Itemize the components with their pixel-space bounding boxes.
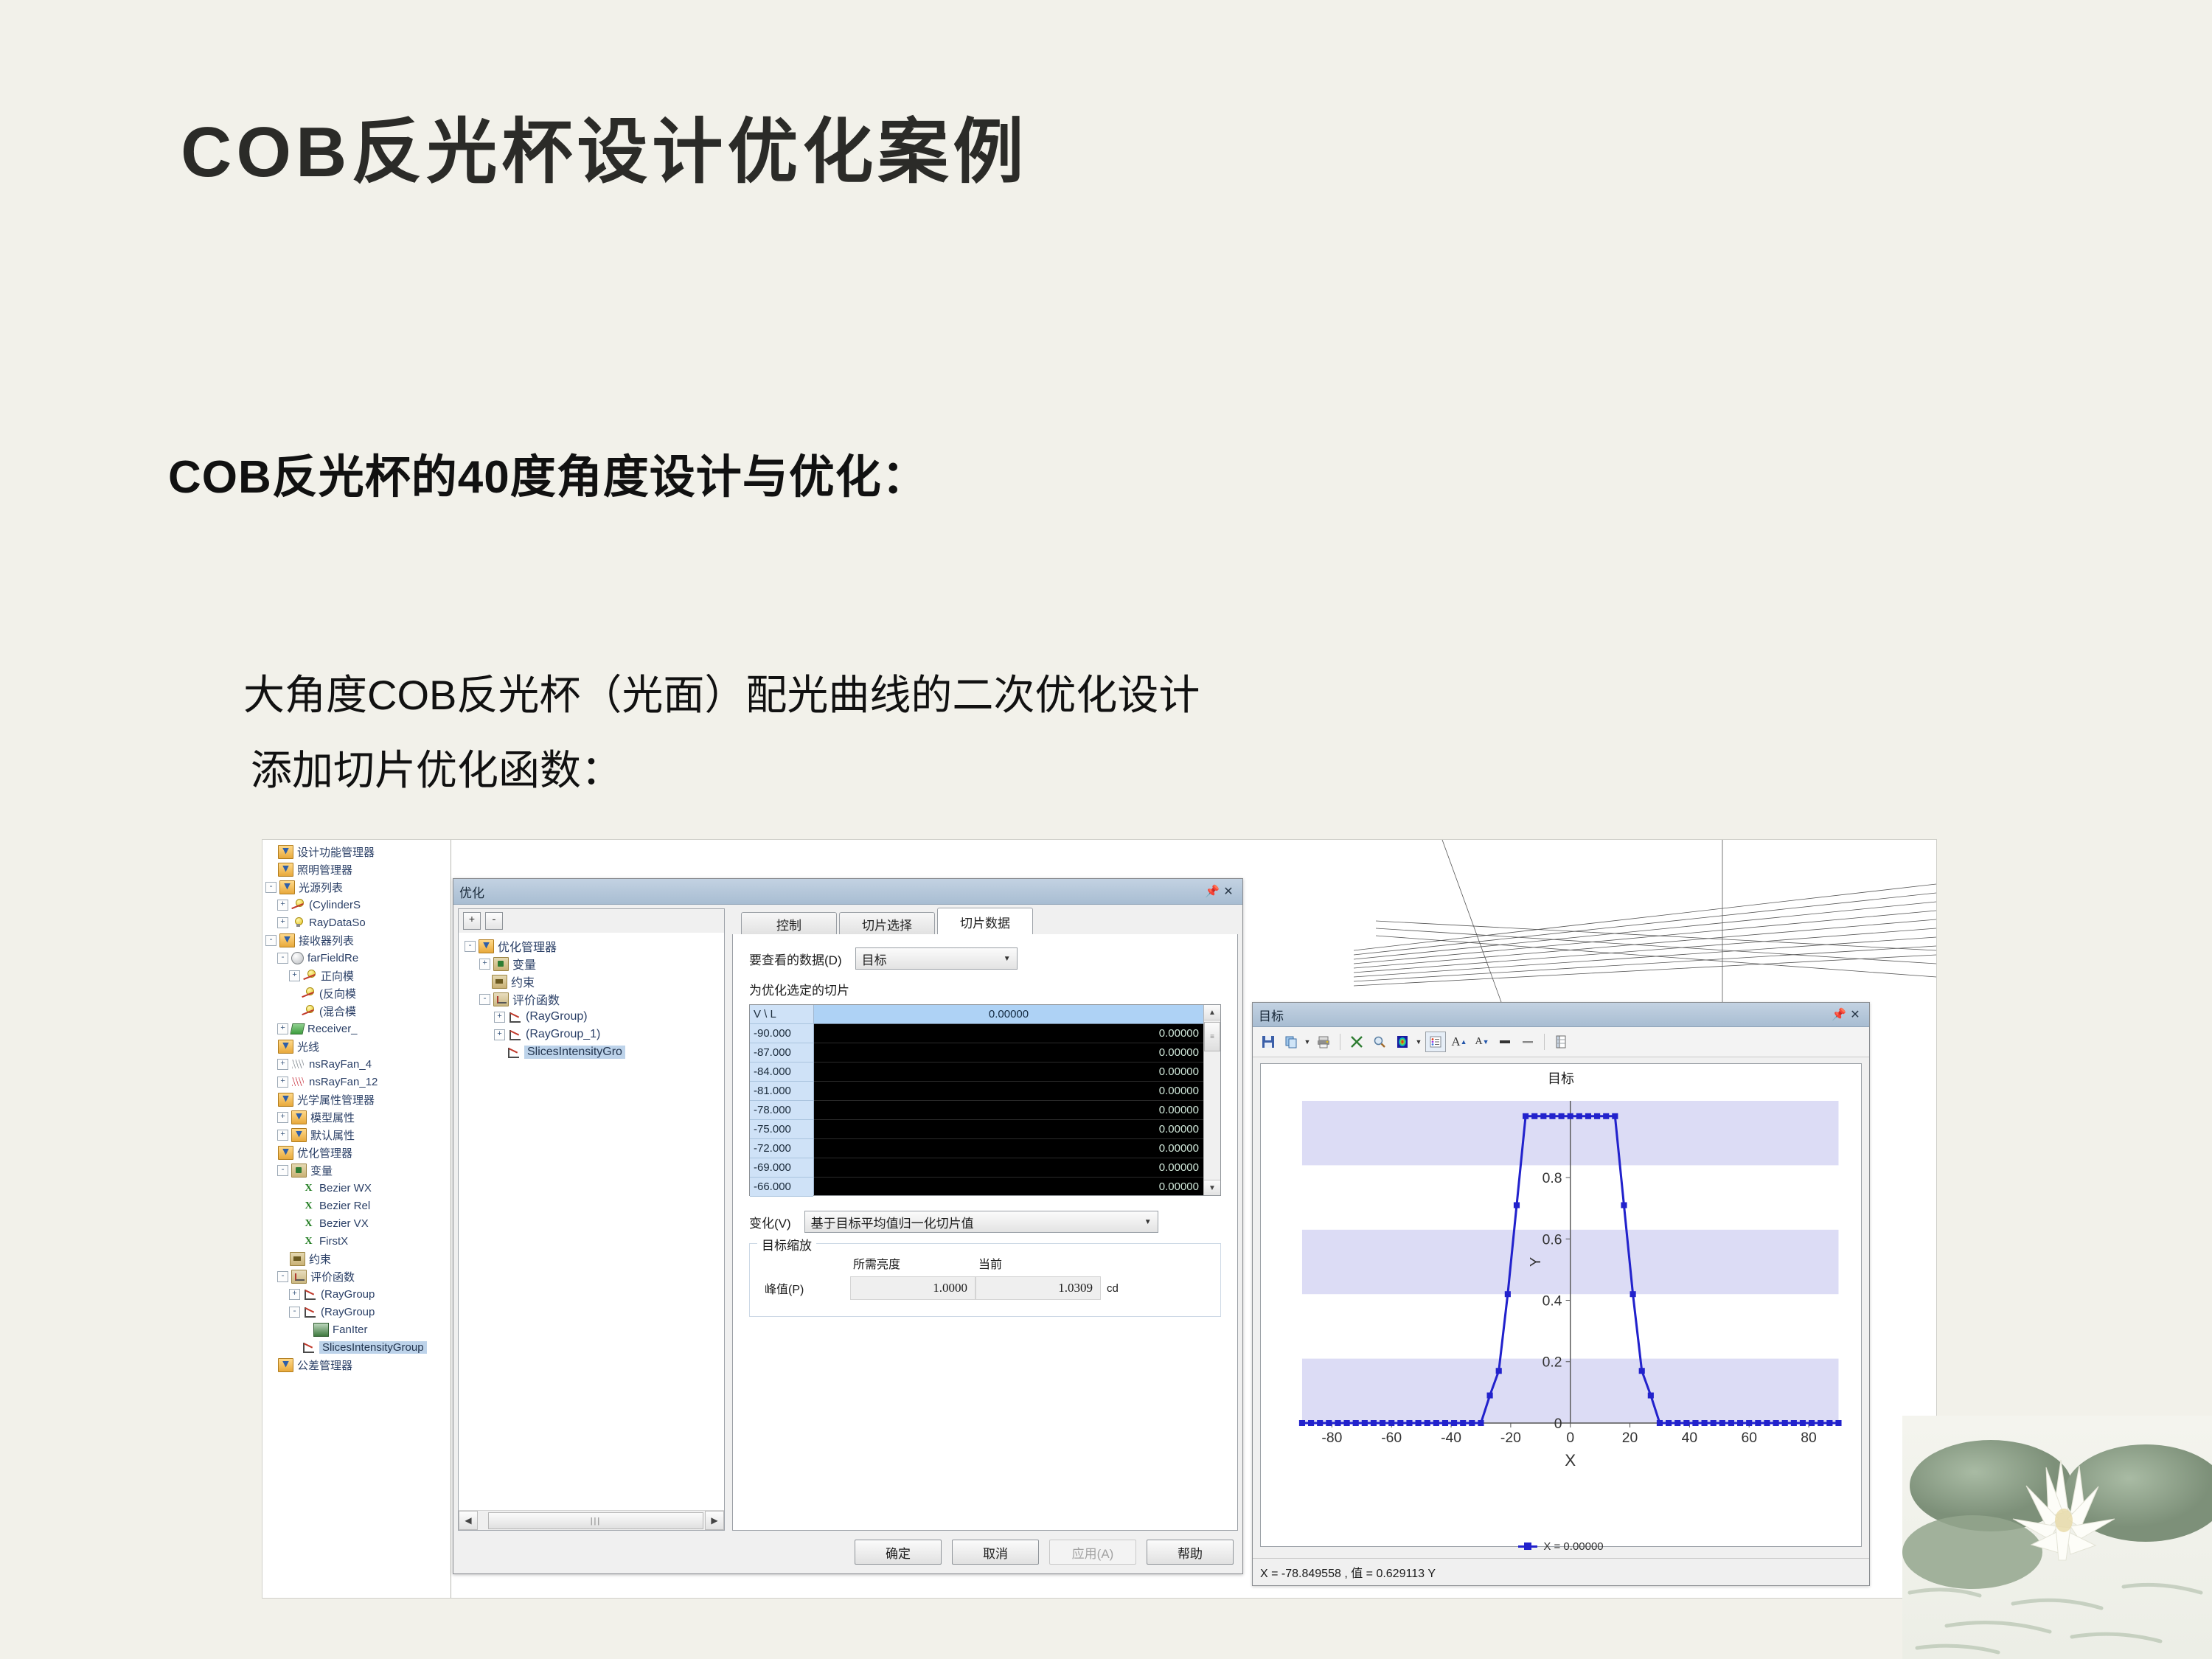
folder-green-icon — [291, 1164, 307, 1178]
folder-icon — [278, 1146, 293, 1160]
tree-item-29[interactable]: 公差管理器 — [265, 1356, 451, 1374]
tree-item-28[interactable]: SlicesIntensityGroup — [265, 1338, 451, 1356]
tree-item-20[interactable]: XBezier Rel — [265, 1197, 451, 1214]
tree-item-label: Bezier WX — [319, 1182, 372, 1194]
chart-canvas[interactable]: 目标 -80-60-40-2002040608000.20.40.60.8XY — [1260, 1063, 1862, 1547]
variation-select[interactable]: 基于目标平均值归一化切片值 ▼ — [804, 1211, 1158, 1233]
tree-item-4[interactable]: +(RayGroup) — [465, 1008, 724, 1026]
chart-data-point — [1826, 1420, 1832, 1426]
tree-item-label: FirstX — [319, 1235, 348, 1248]
expand-icon[interactable]: + — [494, 1012, 505, 1023]
chart-legend[interactable]: X = 0.00000 — [1253, 1540, 1869, 1553]
tree-item-22[interactable]: XFirstX — [265, 1232, 451, 1250]
receiver-icon — [290, 1023, 305, 1034]
chevron-down-icon[interactable]: ▼ — [1416, 1032, 1422, 1051]
save-icon[interactable] — [1259, 1032, 1278, 1051]
copy-icon[interactable] — [1281, 1032, 1301, 1051]
tree-item-label: 公差管理器 — [297, 1357, 352, 1373]
tree-item-25[interactable]: +(RayGroup — [265, 1285, 451, 1303]
grid-row-header-4[interactable]: -78.000 — [750, 1101, 813, 1120]
tab-panel-slice-data: 要查看的数据(D) 目标 ▼ 为优化选定的切片 V \ L-90.000-87.… — [732, 934, 1238, 1531]
folder-icon — [279, 933, 295, 947]
tree-item-26[interactable]: -(RayGroup — [265, 1303, 451, 1321]
tree-item-label: 接收器列表 — [299, 933, 354, 948]
expand-icon[interactable]: + — [277, 1077, 288, 1088]
grid-scroll-thumb[interactable]: ≡ — [1204, 1022, 1220, 1051]
folder-green-icon — [493, 957, 509, 971]
body-text-line-2: 添加切片优化函数： — [251, 737, 622, 797]
chart-data-point — [1764, 1420, 1770, 1426]
y-tick-label: 0 — [1554, 1416, 1562, 1432]
tab-label: 切片选择 — [862, 915, 912, 933]
folder-icon — [279, 880, 295, 894]
folder-constraint-icon — [492, 975, 507, 989]
tree-item-label: 变量 — [310, 1163, 333, 1178]
tree-item-label: Bezier VX — [319, 1217, 369, 1230]
tree-item-label: 评价函数 — [512, 990, 560, 1008]
collapse-icon[interactable]: - — [289, 1307, 300, 1318]
grid-corner-header: V \ L — [750, 1005, 813, 1024]
x-tick-label: -60 — [1381, 1430, 1402, 1446]
expand-icon[interactable]: + — [277, 917, 288, 928]
expand-all-button[interactable]: + — [463, 912, 481, 930]
tree-item-label: 正向模 — [321, 968, 354, 984]
chart-data-point — [1612, 1113, 1618, 1119]
tree-item-8[interactable]: (反向模 — [265, 984, 451, 1002]
chart-data-point — [1308, 1420, 1314, 1426]
tree-item-label: FanIter — [333, 1324, 368, 1336]
tree-item-3[interactable]: +(CylinderS — [265, 896, 451, 914]
grid-row-3[interactable]: 0.00000 — [814, 1082, 1203, 1101]
scatter-icon[interactable] — [1347, 1032, 1366, 1051]
scroll-down-arrow[interactable]: ▼ — [1204, 1180, 1220, 1195]
chart-data-point — [1540, 1113, 1546, 1119]
tree-item-label: (RayGroup) — [526, 1010, 588, 1023]
grid-row-header-5[interactable]: -75.000 — [750, 1120, 813, 1139]
grid-row-6[interactable]: 0.00000 — [814, 1139, 1203, 1158]
chart-status-bar: X = -78.849558 , 值 = 0.629113 Y — [1253, 1558, 1869, 1585]
merit-icon — [508, 1029, 522, 1041]
merit-icon — [302, 1341, 316, 1354]
tree-item-label: nsRayFan_12 — [309, 1076, 378, 1088]
chart-data-point — [1657, 1420, 1663, 1426]
embedded-screenshot: 设计功能管理器照明管理器-光源列表+(CylinderS+RayDataSo-接… — [262, 839, 1937, 1599]
folder-merit-icon — [493, 992, 509, 1006]
chart-data-point — [1728, 1420, 1734, 1426]
tree-item-1[interactable]: 照明管理器 — [265, 860, 451, 878]
folder-icon — [278, 863, 293, 877]
grid-row-header-2[interactable]: -84.000 — [750, 1062, 813, 1082]
chart-data-point — [1594, 1113, 1600, 1119]
tree-item-label: farFieldRe — [307, 952, 358, 964]
tree-item-24[interactable]: -评价函数 — [265, 1267, 451, 1285]
tree-item-9[interactable]: (混合模 — [265, 1002, 451, 1020]
toolbar-separator — [1340, 1034, 1340, 1050]
chart-data-point — [1388, 1420, 1394, 1426]
pin-icon[interactable]: 📌 — [1831, 1007, 1847, 1022]
chart-data-point — [1692, 1420, 1698, 1426]
tree-horizontal-scrollbar[interactable]: ◀ ||| ▶ — [459, 1510, 724, 1530]
chart-data-point — [1791, 1420, 1797, 1426]
chart-data-point — [1371, 1420, 1377, 1426]
tree-item-17[interactable]: 优化管理器 — [265, 1144, 451, 1161]
chart-data-point — [1380, 1420, 1385, 1426]
sphere-icon — [291, 952, 304, 964]
grid-row-header-3[interactable]: -81.000 — [750, 1082, 813, 1101]
dialog-titlebar: 优化 📌 ✕ — [453, 879, 1242, 905]
dialog-button-2: 应用(A) — [1049, 1540, 1136, 1565]
tree-item-label: 光线 — [297, 1039, 319, 1054]
chart-data-point — [1317, 1420, 1323, 1426]
tree-item-5[interactable]: +(RayGroup_1) — [465, 1026, 724, 1043]
grid-row-header-8[interactable]: -66.000 — [750, 1178, 813, 1197]
tree-item-16[interactable]: +默认属性 — [265, 1126, 451, 1144]
x-axis-label: X — [1565, 1451, 1576, 1470]
lotus-decoration-image — [1902, 1416, 2212, 1659]
optimization-tree-panel[interactable]: + - -优化管理器+变量约束-评价函数+(RayGroup)+(RayGrou… — [458, 908, 725, 1531]
chart-title: 目标 — [1261, 1064, 1861, 1088]
chart-data-point — [1353, 1420, 1359, 1426]
variable-x-icon: X — [302, 1182, 316, 1194]
variable-x-icon: X — [302, 1200, 316, 1212]
tree-item-15[interactable]: +模型属性 — [265, 1108, 451, 1126]
grid-row-8[interactable]: 0.00000 — [814, 1178, 1203, 1195]
collapse-icon[interactable]: - — [277, 1165, 288, 1176]
slices-label: 为优化选定的切片 — [749, 980, 1221, 998]
collapse-icon[interactable]: - — [265, 882, 276, 893]
line-thin-icon[interactable] — [1518, 1032, 1537, 1051]
grid-row-4[interactable]: 0.00000 — [814, 1101, 1203, 1120]
grid-column-header[interactable]: 0.00000 — [814, 1005, 1203, 1024]
chart-data-point — [1487, 1393, 1493, 1399]
chart-data-point — [1299, 1420, 1305, 1426]
current-value-field: 1.0309 — [975, 1276, 1101, 1300]
tree-item-11[interactable]: 光线 — [265, 1037, 451, 1055]
chart-data-point — [1559, 1113, 1565, 1119]
tree-item-0[interactable]: 设计功能管理器 — [265, 843, 451, 860]
grid-row-headers: V \ L-90.000-87.000-84.000-81.000-78.000… — [750, 1005, 814, 1195]
tree-item-label: 优化管理器 — [498, 937, 557, 955]
chart-data-point — [1800, 1420, 1806, 1426]
expand-icon[interactable]: + — [277, 1130, 288, 1141]
chart-status-text: X = -78.849558 , 值 = 0.629113 Y — [1260, 1563, 1436, 1581]
tree-item-label: Bezier Rel — [319, 1200, 370, 1212]
chart-data-point — [1469, 1420, 1475, 1426]
y-tick-label: 0.8 — [1543, 1171, 1562, 1186]
dialog-button-1[interactable]: 取消 — [952, 1540, 1039, 1565]
toolbar-separator — [1544, 1034, 1545, 1050]
tree-item-label: nsRayFan_4 — [309, 1058, 372, 1071]
tree-item-label: 默认属性 — [310, 1127, 355, 1143]
chevron-down-icon: ▼ — [1004, 955, 1011, 963]
chart-data-point — [1835, 1420, 1841, 1426]
chart-dock-titlebar: 目标 📌 ✕ — [1253, 1003, 1869, 1027]
grid-row-0[interactable]: 0.00000 — [814, 1024, 1203, 1043]
zoom-icon[interactable] — [1370, 1032, 1389, 1051]
x-tick-label: 20 — [1622, 1430, 1638, 1446]
chart-data-point — [1809, 1420, 1815, 1426]
tree-item-label: 设计功能管理器 — [297, 844, 375, 860]
dialog-button-0[interactable]: 确定 — [855, 1540, 942, 1565]
grid-row-2[interactable]: 0.00000 — [814, 1062, 1203, 1082]
tree-item-label: 照明管理器 — [297, 862, 352, 877]
tree-item-label: 评价函数 — [310, 1269, 355, 1284]
expand-icon[interactable]: + — [289, 970, 300, 981]
tree-item-2[interactable]: 约束 — [465, 973, 724, 990]
expand-icon[interactable]: + — [277, 1023, 288, 1034]
chart-data-point — [1683, 1420, 1689, 1426]
tree-item-14[interactable]: 光学属性管理器 — [265, 1091, 451, 1108]
scroll-up-arrow[interactable]: ▲ — [1204, 1005, 1220, 1020]
chart-data-point — [1362, 1420, 1368, 1426]
folder-icon — [278, 1040, 293, 1054]
tree-item-27[interactable]: FanIter — [265, 1321, 451, 1338]
tree-item-label: 模型属性 — [310, 1110, 355, 1125]
chart-data-point — [1755, 1420, 1761, 1426]
bulb-ray-icon — [302, 1005, 316, 1018]
chart-dock-title: 目标 — [1259, 1006, 1831, 1024]
pin-icon[interactable]: 📌 — [1204, 884, 1220, 899]
tree-item-3[interactable]: -评价函数 — [465, 990, 724, 1008]
x-tick-label: -40 — [1441, 1430, 1461, 1446]
chart-toolbar[interactable]: ▼ ▼ A▲ A▼ — [1253, 1027, 1869, 1057]
tree-item-7[interactable]: +正向模 — [265, 967, 451, 984]
collapse-icon[interactable]: - — [479, 994, 490, 1005]
tree-item-label: (CylinderS — [309, 899, 361, 911]
grid-row-header-0[interactable]: -90.000 — [750, 1024, 813, 1043]
target-chart-dock: 目标 📌 ✕ ▼ ▼ — [1252, 1002, 1870, 1586]
font-decrease-icon[interactable]: A▼ — [1472, 1032, 1492, 1051]
tree-item-0[interactable]: -优化管理器 — [465, 937, 724, 955]
x-tick-label: 80 — [1801, 1430, 1816, 1446]
slide-subtitle: COB反光杯的40度角度设计与优化： — [168, 439, 928, 506]
grid-row-header-6[interactable]: -72.000 — [750, 1139, 813, 1158]
tree-item-label: 光源列表 — [299, 880, 343, 895]
required-brightness-field[interactable]: 1.0000 — [850, 1276, 975, 1300]
chart-data-point — [1639, 1368, 1645, 1374]
tab-2[interactable]: 切片数据 — [937, 908, 1033, 936]
tree-item-label: 变量 — [512, 955, 536, 973]
y-tick-label: 0.6 — [1543, 1232, 1562, 1248]
tab-0[interactable]: 控制 — [741, 912, 837, 935]
tree-item-label: 光学属性管理器 — [297, 1092, 375, 1107]
tree-item-10[interactable]: +Receiver_ — [265, 1020, 451, 1037]
collapse-icon[interactable]: - — [277, 1271, 288, 1282]
tab-label: 切片数据 — [960, 913, 1010, 931]
font-increase-icon[interactable]: A▲ — [1450, 1032, 1469, 1051]
tree-item-label: Receiver_ — [307, 1023, 358, 1035]
chart-data-point — [1818, 1420, 1823, 1426]
grid-row-header-7[interactable]: -69.000 — [750, 1158, 813, 1178]
chart-data-point — [1630, 1291, 1636, 1297]
collapse-icon[interactable]: - — [265, 935, 276, 946]
collapse-icon[interactable]: - — [277, 953, 288, 964]
scroll-left-arrow[interactable]: ◀ — [459, 1511, 478, 1530]
chart-data-point — [1782, 1420, 1788, 1426]
grid-row-7[interactable]: 0.00000 — [814, 1158, 1203, 1178]
tree-item-18[interactable]: -变量 — [265, 1161, 451, 1179]
chart-data-point — [1523, 1113, 1528, 1119]
legend-label: X = 0.00000 — [1543, 1540, 1603, 1553]
tree-item-6[interactable]: -farFieldRe — [265, 949, 451, 967]
dialog-button-bar: 确定取消应用(A)帮助 — [458, 1535, 1238, 1569]
required-brightness-header: 所需亮度 — [850, 1254, 975, 1272]
chart-data-point — [1505, 1291, 1511, 1297]
chart-data-point — [1603, 1113, 1609, 1119]
chart-data-point — [1549, 1113, 1555, 1119]
dialog-button-3[interactable]: 帮助 — [1147, 1540, 1234, 1565]
close-icon[interactable]: ✕ — [1220, 884, 1237, 899]
chart-data-point — [1568, 1113, 1573, 1119]
tree-item-13[interactable]: +nsRayFan_12 — [265, 1073, 451, 1091]
page-title: COB反光杯设计优化案例 — [181, 94, 1028, 197]
variable-x-icon: X — [302, 1235, 316, 1248]
tree-item-19[interactable]: XBezier WX — [265, 1179, 451, 1197]
slice-data-grid[interactable]: V \ L-90.000-87.000-84.000-81.000-78.000… — [749, 1004, 1221, 1196]
chart-data-point — [1585, 1113, 1591, 1119]
expand-icon[interactable]: + — [277, 1112, 288, 1123]
chevron-down-icon[interactable]: ▼ — [1304, 1032, 1310, 1051]
grid-row-1[interactable]: 0.00000 — [814, 1043, 1203, 1062]
legend-marker-icon — [1518, 1545, 1537, 1548]
project-tree-panel[interactable]: 设计功能管理器照明管理器-光源列表+(CylinderS+RayDataSo-接… — [262, 840, 451, 1598]
merit-icon — [508, 1011, 522, 1023]
tab-label: 控制 — [776, 915, 801, 933]
tree-item-2[interactable]: -光源列表 — [265, 878, 451, 896]
x-tick-label: 60 — [1741, 1430, 1756, 1446]
x-tick-label: -20 — [1500, 1430, 1521, 1446]
tree-item-4[interactable]: +RayDataSo — [265, 914, 451, 931]
optimization-dialog: 优化 📌 ✕ + - -优化管理器+变量约束-评价函数+(RayGroup)+(… — [453, 878, 1243, 1574]
scroll-right-arrow[interactable]: ▶ — [705, 1511, 724, 1530]
optimization-tree[interactable]: -优化管理器+变量约束-评价函数+(RayGroup)+(RayGroup_1)… — [459, 933, 724, 1508]
tree-item-label: (RayGroup_1) — [526, 1028, 600, 1041]
folder-icon — [278, 1358, 293, 1372]
tree-item-label: (RayGroup — [321, 1288, 375, 1301]
tab-1[interactable]: 切片选择 — [839, 912, 935, 935]
chart-data-point — [1737, 1420, 1743, 1426]
line-thick-icon[interactable] — [1495, 1032, 1514, 1051]
tree-item-1[interactable]: +变量 — [465, 955, 724, 973]
fan-item-icon — [313, 1323, 329, 1337]
chart-data-point — [1478, 1420, 1484, 1426]
chart-data-point — [1674, 1420, 1680, 1426]
tree-item-label: (反向模 — [319, 986, 356, 1001]
chart-data-point — [1335, 1420, 1340, 1426]
y-axis-label: Y — [1528, 1257, 1544, 1267]
tab-strip[interactable]: 控制切片选择切片数据 — [732, 908, 1238, 936]
chart-data-point — [1514, 1203, 1520, 1208]
tree-item-label: 约束 — [309, 1251, 331, 1267]
tree-item-12[interactable]: +nsRayFan_4 — [265, 1055, 451, 1073]
tree-item-6[interactable]: SlicesIntensityGro — [465, 1043, 724, 1061]
tree-item-label: 约束 — [511, 973, 535, 990]
chart-data-point — [1496, 1368, 1502, 1374]
bulb-icon — [291, 917, 305, 929]
rayfan-icon — [291, 1058, 305, 1071]
chart-data-point — [1621, 1203, 1627, 1208]
chart-data-point — [1416, 1420, 1422, 1426]
chart-data-point — [1746, 1420, 1752, 1426]
expand-icon[interactable]: + — [289, 1289, 300, 1300]
chevron-down-icon: ▼ — [1144, 1218, 1152, 1226]
chart-data-point — [1425, 1420, 1430, 1426]
tree-item-5[interactable]: -接收器列表 — [265, 931, 451, 949]
collapse-all-button[interactable]: - — [485, 912, 503, 930]
collapse-icon[interactable]: - — [465, 941, 476, 952]
data-to-view-label: 要查看的数据(D) — [749, 950, 842, 968]
chart-data-point — [1666, 1420, 1672, 1426]
folder-icon — [291, 1128, 307, 1142]
chart-data-point — [1460, 1420, 1466, 1426]
y-tick-label: 0.2 — [1543, 1355, 1562, 1371]
tree-item-label: SlicesIntensityGroup — [319, 1341, 427, 1354]
colormap-icon[interactable] — [1393, 1032, 1412, 1051]
chart-data-point — [1344, 1420, 1350, 1426]
body-text-line-1: 大角度COB反光杯（光面）配光曲线的二次优化设计 — [243, 662, 1200, 722]
variation-label: 变化(V) — [749, 1213, 791, 1231]
bulb-ray-icon — [302, 987, 316, 1000]
chart-data-point — [1711, 1420, 1717, 1426]
data-to-view-value: 目标 — [862, 950, 996, 968]
tree-item-label: (RayGroup — [321, 1306, 375, 1318]
expand-icon[interactable]: + — [479, 959, 490, 970]
tree-item-21[interactable]: XBezier VX — [265, 1214, 451, 1232]
legend-icon[interactable] — [1425, 1032, 1446, 1052]
folder-constraint-icon — [290, 1252, 305, 1266]
x-tick-label: -80 — [1321, 1430, 1342, 1446]
target-scaling-group: 目标缩放 所需亮度 当前 峰值(P) 1.0000 1.0309 cd — [749, 1243, 1221, 1317]
rayfan-red-icon — [291, 1076, 305, 1088]
merit-icon — [303, 1306, 317, 1318]
grid-vertical-scrollbar[interactable]: ▲ ≡ ▼ — [1203, 1005, 1220, 1195]
expand-icon[interactable]: + — [277, 900, 288, 911]
table-icon[interactable] — [1551, 1032, 1571, 1051]
grid-row-header-1[interactable]: -87.000 — [750, 1043, 813, 1062]
tree-item-label: SlicesIntensityGro — [524, 1046, 625, 1059]
chart-data-point — [1406, 1420, 1412, 1426]
tree-toolbar: + - — [459, 909, 724, 933]
chart-data-point — [1648, 1393, 1654, 1399]
chart-data-point — [1702, 1420, 1708, 1426]
merit-icon — [507, 1046, 521, 1059]
expand-icon[interactable]: + — [494, 1029, 505, 1040]
expand-icon[interactable]: + — [277, 1059, 288, 1070]
grid-body[interactable]: 0.00000 0.000000.000000.000000.000000.00… — [814, 1005, 1203, 1195]
x-tick-label: 40 — [1682, 1430, 1697, 1446]
scroll-thumb[interactable]: ||| — [488, 1512, 703, 1529]
folder-merit-icon — [291, 1270, 307, 1284]
print-icon[interactable] — [1314, 1032, 1333, 1051]
peak-row-label: 峰值(P) — [762, 1279, 850, 1297]
chart-plot: -80-60-40-2002040608000.20.40.60.8XY — [1261, 1088, 1861, 1493]
tree-item-23[interactable]: 约束 — [265, 1250, 451, 1267]
y-tick-label: 0.4 — [1543, 1294, 1562, 1310]
tree-item-label: (混合模 — [319, 1004, 356, 1019]
dialog-tab-area: 控制切片选择切片数据 要查看的数据(D) 目标 ▼ 为优化选定的切片 V \ L… — [732, 908, 1238, 1531]
x-tick-label: 0 — [1566, 1430, 1574, 1446]
variation-value: 基于目标平均值归一化切片值 — [811, 1213, 1137, 1231]
chart-data-point — [1442, 1420, 1448, 1426]
tree-item-label: 优化管理器 — [297, 1145, 352, 1161]
grid-row-5[interactable]: 0.00000 — [814, 1120, 1203, 1139]
close-icon[interactable]: ✕ — [1847, 1007, 1863, 1022]
chart-data-point — [1719, 1420, 1725, 1426]
folder-icon — [479, 939, 494, 953]
chart-data-point — [1451, 1420, 1457, 1426]
scroll-track[interactable]: ||| — [478, 1512, 705, 1529]
data-to-view-select[interactable]: 目标 ▼ — [855, 947, 1018, 970]
